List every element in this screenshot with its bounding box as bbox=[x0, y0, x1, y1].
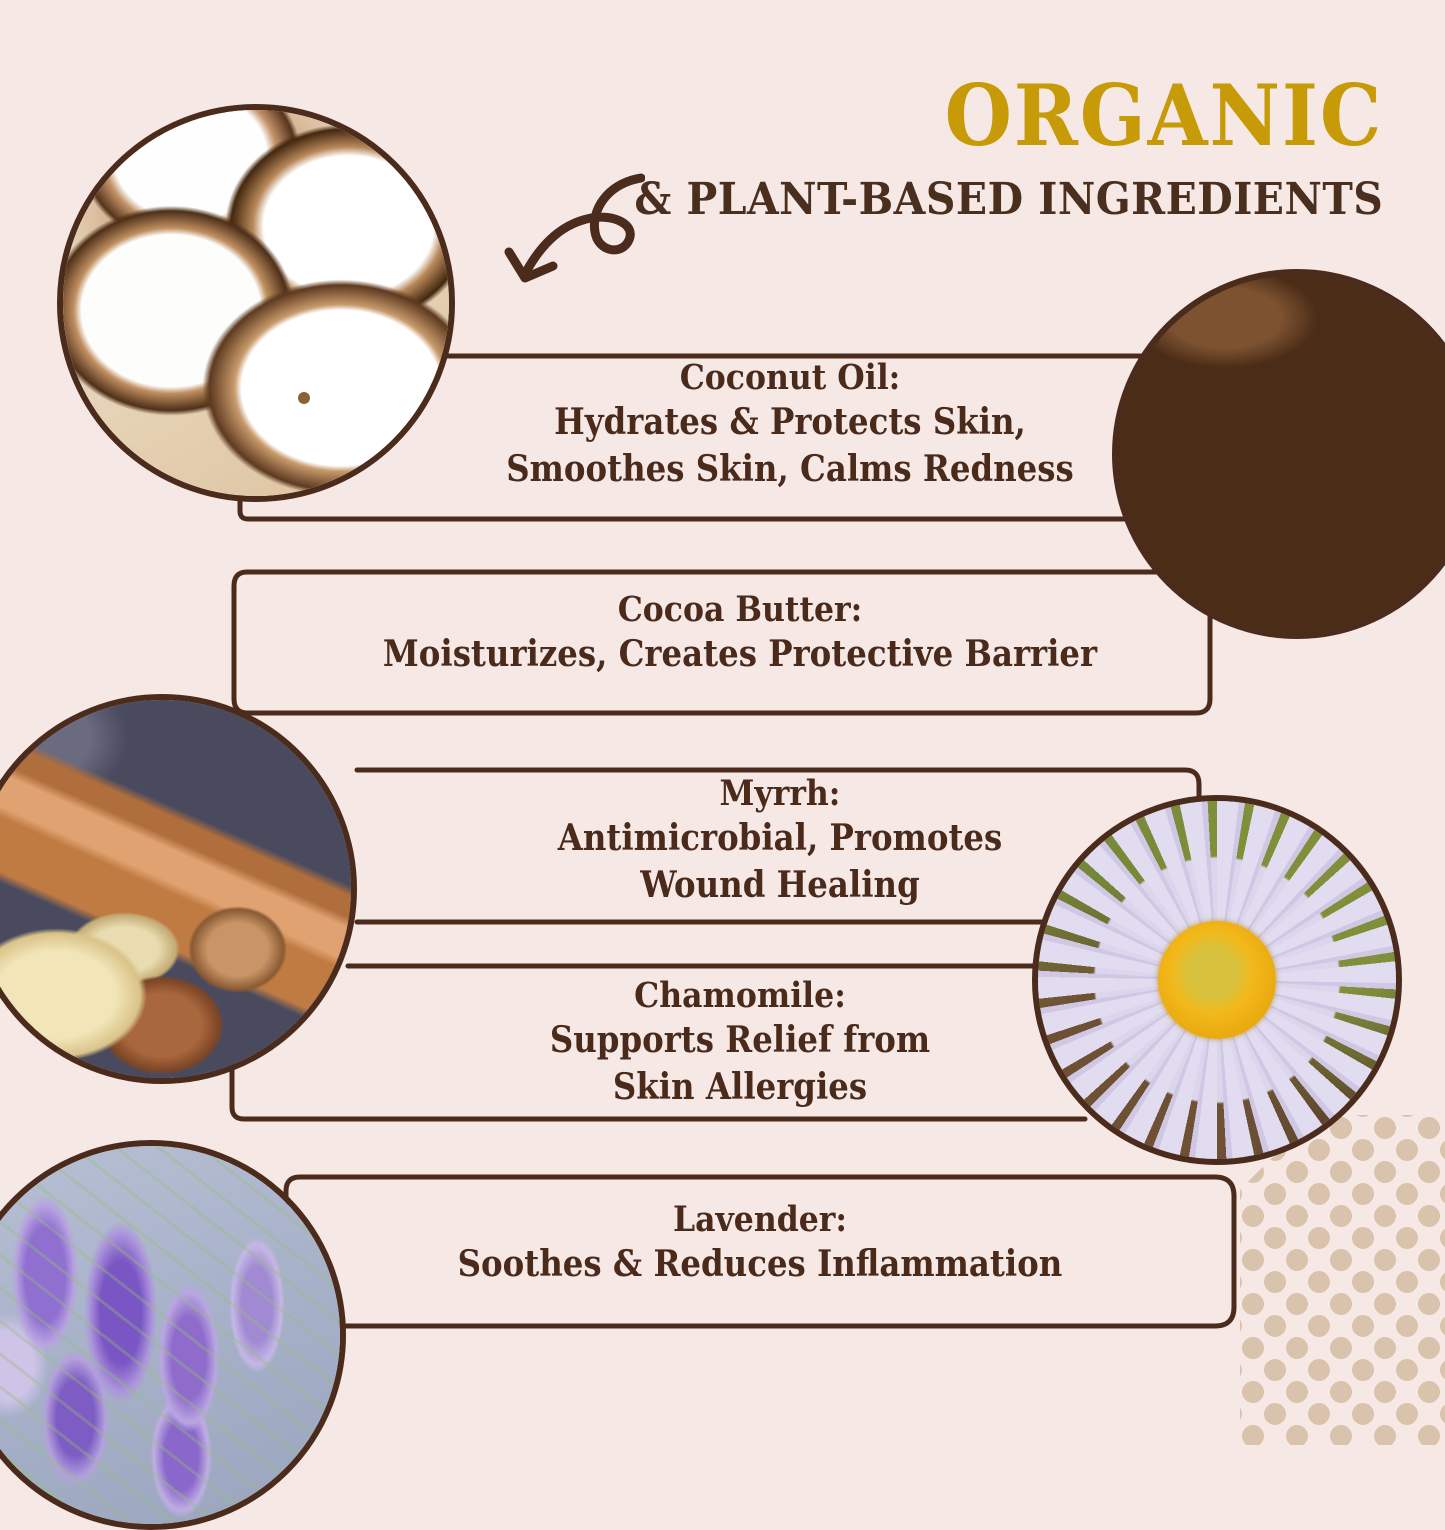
page-subtitle: & PLANT-BASED INGREDIENTS bbox=[634, 174, 1383, 225]
lavender-image-fill bbox=[0, 1146, 340, 1524]
ingredient-desc-line-1: Soothes & Reduces Inflammation bbox=[373, 1243, 1147, 1286]
ingredient-name: Coconut Oil: bbox=[466, 358, 1114, 397]
curly-down-arrow-icon bbox=[495, 170, 645, 295]
ingredient-desc-line-2: Smoothes Skin, Calms Redness bbox=[466, 448, 1114, 491]
ingredient-desc-line-2: Skin Allergies bbox=[398, 1066, 1082, 1109]
ingredient-desc-line-1: Antimicrobial, Promotes bbox=[438, 817, 1122, 860]
coconut-halves-photo bbox=[57, 104, 455, 502]
ingredient-desc-line-2: Wound Healing bbox=[438, 864, 1122, 907]
ingredient-text-chamomile: Chamomile: Supports Relief from Skin All… bbox=[360, 976, 1120, 1110]
infographic-canvas: ORGANIC & PLANT-BASED INGREDIENTS Coconu… bbox=[0, 0, 1445, 1445]
ingredient-name: Chamomile: bbox=[398, 976, 1082, 1015]
page-title: ORGANIC bbox=[642, 72, 1383, 160]
ingredient-text-lavender: Lavender: Soothes & Reduces Inflammation bbox=[330, 1200, 1190, 1286]
myrrh-image-fill bbox=[0, 700, 351, 1078]
ingredient-name: Myrrh: bbox=[438, 774, 1122, 813]
coconut-image-fill bbox=[63, 110, 449, 496]
lavender-sprigs-photo bbox=[0, 1140, 346, 1530]
ingredient-name: Cocoa Butter: bbox=[335, 590, 1145, 629]
ingredient-text-coconut-oil: Coconut Oil: Hydrates & Protects Skin, S… bbox=[430, 358, 1150, 492]
ingredient-desc-line-1: Supports Relief from bbox=[398, 1019, 1082, 1062]
ingredient-desc-line-1: Moisturizes, Creates Protective Barrier bbox=[335, 633, 1145, 676]
myrrh-resin-photo bbox=[0, 694, 357, 1084]
chamomile-flower-center bbox=[1158, 921, 1276, 1039]
ingredient-text-cocoa-butter: Cocoa Butter: Moisturizes, Creates Prote… bbox=[290, 590, 1190, 676]
cocoa-image-fill bbox=[1118, 275, 1445, 633]
ingredient-desc-line-1: Hydrates & Protects Skin, bbox=[466, 401, 1114, 444]
chamomile-flower-photo bbox=[1032, 795, 1402, 1165]
header: ORGANIC & PLANT-BASED INGREDIENTS bbox=[578, 72, 1383, 225]
ingredient-name: Lavender: bbox=[373, 1200, 1147, 1239]
cocoa-pods-photo bbox=[1112, 269, 1445, 639]
